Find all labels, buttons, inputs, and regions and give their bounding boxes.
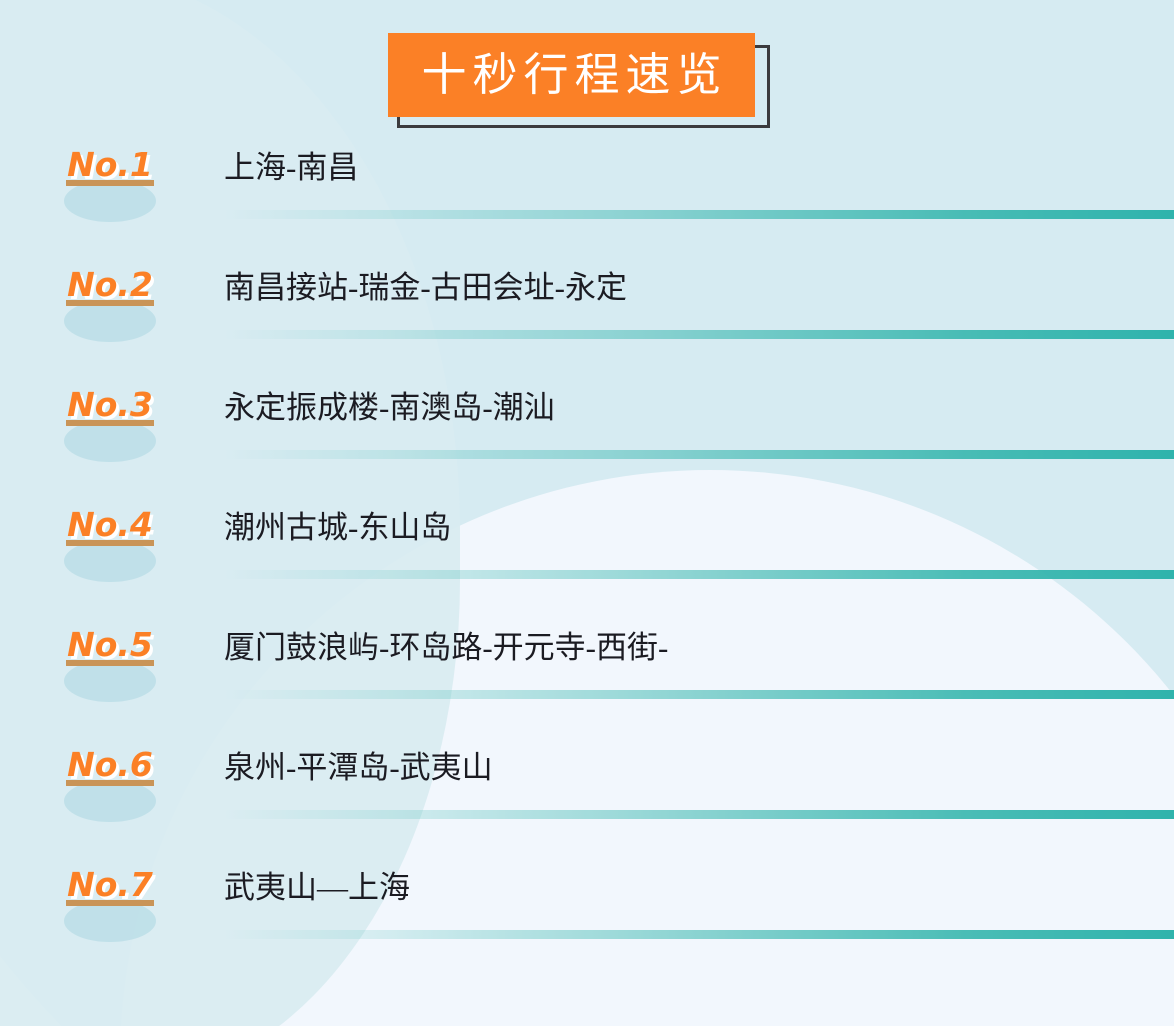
rank-badge-label: No.7 xyxy=(58,862,162,910)
rank-badge-label: No.5 xyxy=(58,622,162,670)
rank-badge: No.6 xyxy=(58,742,162,832)
list-item: No.7 武夷山—上海 xyxy=(0,862,1174,982)
rank-badge-label: No.2 xyxy=(58,262,162,310)
itinerary-text: 泉州-平潭岛-武夷山 xyxy=(224,742,493,794)
list-item: No.5 厦门鼓浪屿-环岛路-开元寺-西街- xyxy=(0,622,1174,742)
rank-badge-label: No.6 xyxy=(58,742,162,790)
row-divider xyxy=(224,330,1174,339)
list-item: No.2 南昌接站-瑞金-古田会址-永定 xyxy=(0,262,1174,382)
itinerary-text: 厦门鼓浪屿-环岛路-开元寺-西街- xyxy=(224,622,668,674)
itinerary-text: 潮州古城-东山岛 xyxy=(224,502,451,554)
itinerary-text: 南昌接站-瑞金-古田会址-永定 xyxy=(224,262,627,314)
rank-badge-label: No.1 xyxy=(58,142,162,190)
rank-badge: No.5 xyxy=(58,622,162,712)
rank-badge-label: No.3 xyxy=(58,382,162,430)
rank-badge: No.2 xyxy=(58,262,162,352)
list-item: No.3 永定振成楼-南澳岛-潮汕 xyxy=(0,382,1174,502)
list-item: No.4 潮州古城-东山岛 xyxy=(0,502,1174,622)
itinerary-text: 永定振成楼-南澳岛-潮汕 xyxy=(224,382,555,434)
itinerary-list: No.1 上海-南昌 No.2 南昌接站-瑞金-古田会址-永定 No.3 永定振… xyxy=(0,0,1174,1026)
row-divider xyxy=(224,930,1174,939)
itinerary-text: 上海-南昌 xyxy=(224,142,358,194)
rank-badge: No.3 xyxy=(58,382,162,472)
poster-canvas: 十秒行程速览 No.1 上海-南昌 No.2 南昌接站-瑞金-古田会址-永定 xyxy=(0,0,1174,1026)
rank-badge: No.4 xyxy=(58,502,162,592)
rank-badge: No.7 xyxy=(58,862,162,952)
row-divider xyxy=(224,450,1174,459)
list-item: No.6 泉州-平潭岛-武夷山 xyxy=(0,742,1174,862)
itinerary-text: 武夷山—上海 xyxy=(224,862,410,914)
row-divider xyxy=(224,810,1174,819)
list-item: No.1 上海-南昌 xyxy=(0,142,1174,262)
row-divider xyxy=(224,210,1174,219)
rank-badge-label: No.4 xyxy=(58,502,162,550)
row-divider xyxy=(224,690,1174,699)
row-divider xyxy=(224,570,1174,579)
rank-badge: No.1 xyxy=(58,142,162,232)
